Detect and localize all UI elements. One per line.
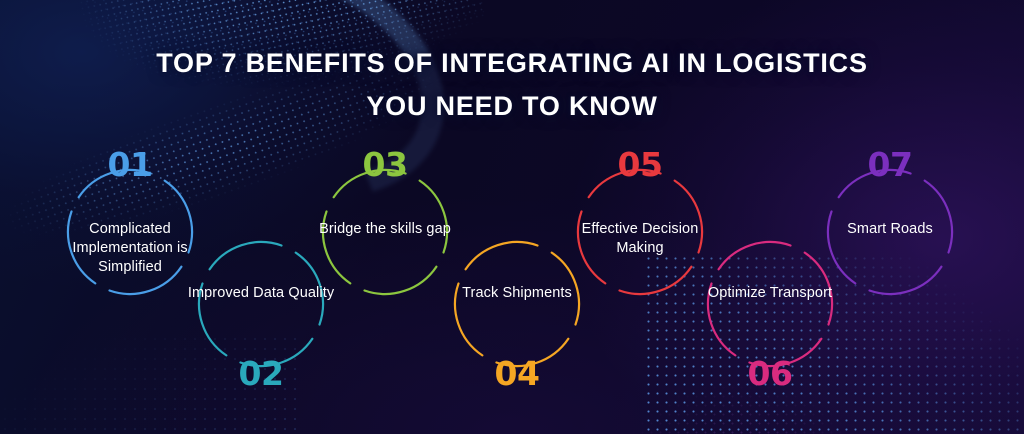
step-02[interactable]: 02Improved Data Quality xyxy=(193,236,329,372)
step-07-label: Smart Roads xyxy=(806,220,974,239)
step-02-ring xyxy=(193,236,329,372)
step-06[interactable]: 06Optimize Transport xyxy=(702,236,838,372)
infographic-canvas: TOP 7 BENEFITS OF INTEGRATING AI IN LOGI… xyxy=(0,0,1024,434)
step-03[interactable]: 03Bridge the skills gap xyxy=(317,164,453,300)
page-title: TOP 7 BENEFITS OF INTEGRATING AI IN LOGI… xyxy=(0,42,1024,128)
step-01[interactable]: 01Complicated Implementation is Simplifi… xyxy=(62,164,198,300)
step-01-number: 01 xyxy=(62,148,198,181)
step-04-number: 04 xyxy=(449,357,585,390)
title-line-1: TOP 7 BENEFITS OF INTEGRATING AI IN LOGI… xyxy=(0,42,1024,85)
step-03-label: Bridge the skills gap xyxy=(301,220,469,239)
step-06-number: 06 xyxy=(702,357,838,390)
step-02-number: 02 xyxy=(193,357,329,390)
step-05-label: Effective Decision Making xyxy=(556,220,724,258)
step-01-label: Complicated Implementation is Simplified xyxy=(46,220,214,277)
step-03-number: 03 xyxy=(317,148,453,181)
step-05-number: 05 xyxy=(572,148,708,181)
step-06-ring xyxy=(702,236,838,372)
step-07[interactable]: 07Smart Roads xyxy=(822,164,958,300)
title-line-2: YOU NEED TO KNOW xyxy=(0,85,1024,128)
step-07-number: 07 xyxy=(822,148,958,181)
step-05[interactable]: 05Effective Decision Making xyxy=(572,164,708,300)
